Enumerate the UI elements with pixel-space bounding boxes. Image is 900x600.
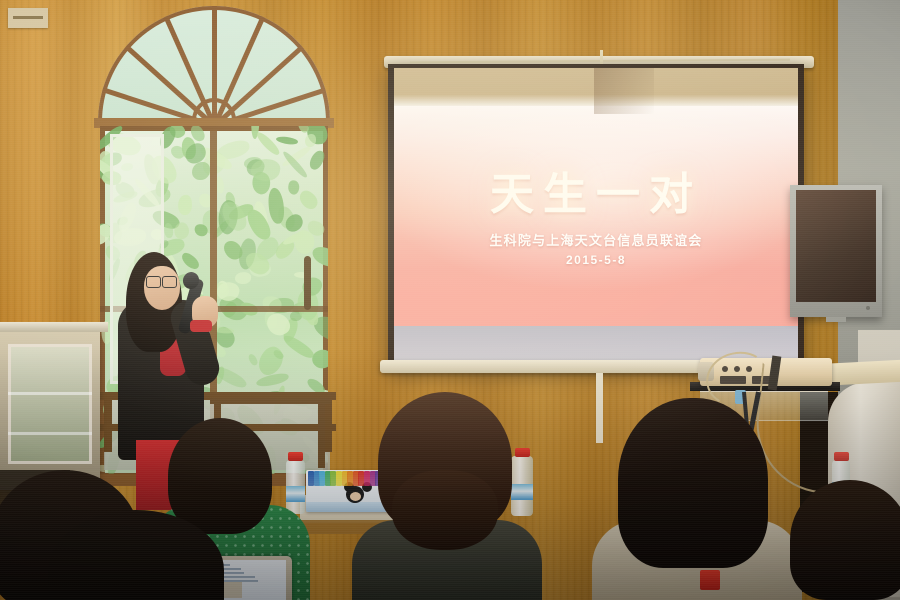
presentation-photo: 天生一对 生科院与上海天文台信息员联谊会 2015-5-8 [0,0,900,600]
vignette [0,0,900,600]
